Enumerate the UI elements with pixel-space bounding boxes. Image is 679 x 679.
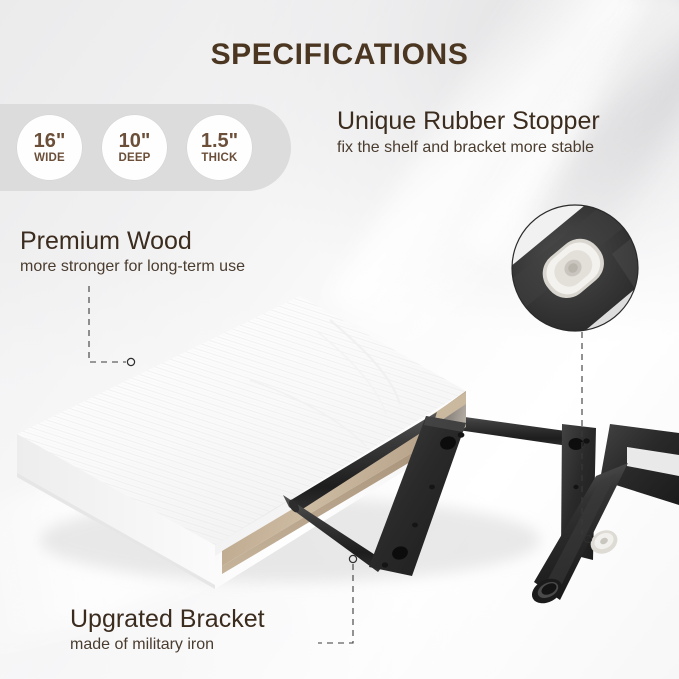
callout-subtitle: made of military iron [70, 635, 265, 654]
bracket-detached [528, 424, 679, 608]
callout-rubber-stopper: Unique Rubber Stopper fix the shelf and … [337, 108, 600, 157]
dimension-badges-panel: 16" WIDE 10" DEEP 1.5" THICK [0, 104, 291, 191]
dimension-badge-label: THICK [201, 153, 237, 165]
dimension-badge-label: DEEP [118, 153, 150, 165]
callout-title: Premium Wood [20, 228, 245, 254]
dimension-badge-value: 10" [119, 131, 151, 151]
page-title: SPECIFICATIONS [0, 38, 679, 72]
dimension-badge-deep: 10" DEEP [102, 115, 167, 180]
dimension-badge-wide: 16" WIDE [17, 115, 82, 180]
dimension-badge-value: 1.5" [201, 131, 238, 151]
callout-title: Unique Rubber Stopper [337, 108, 600, 134]
dimension-badge-value: 16" [34, 131, 66, 151]
callout-upgrated-bracket: Upgrated Bracket made of military iron [70, 606, 265, 654]
callout-premium-wood: Premium Wood more stronger for long-term… [20, 228, 245, 276]
dimension-badge-thick: 1.5" THICK [187, 115, 252, 180]
callout-subtitle: more stronger for long-term use [20, 257, 245, 276]
specifications-infographic: SPECIFICATIONS 16" WIDE 10" DEEP 1.5" TH… [0, 0, 679, 679]
callout-subtitle: fix the shelf and bracket more stable [337, 138, 600, 157]
dimension-badge-label: WIDE [34, 153, 65, 165]
rubber-stopper-zoom-inset [470, 178, 679, 400]
product-illustration [0, 0, 679, 679]
callout-title: Upgrated Bracket [70, 606, 265, 632]
